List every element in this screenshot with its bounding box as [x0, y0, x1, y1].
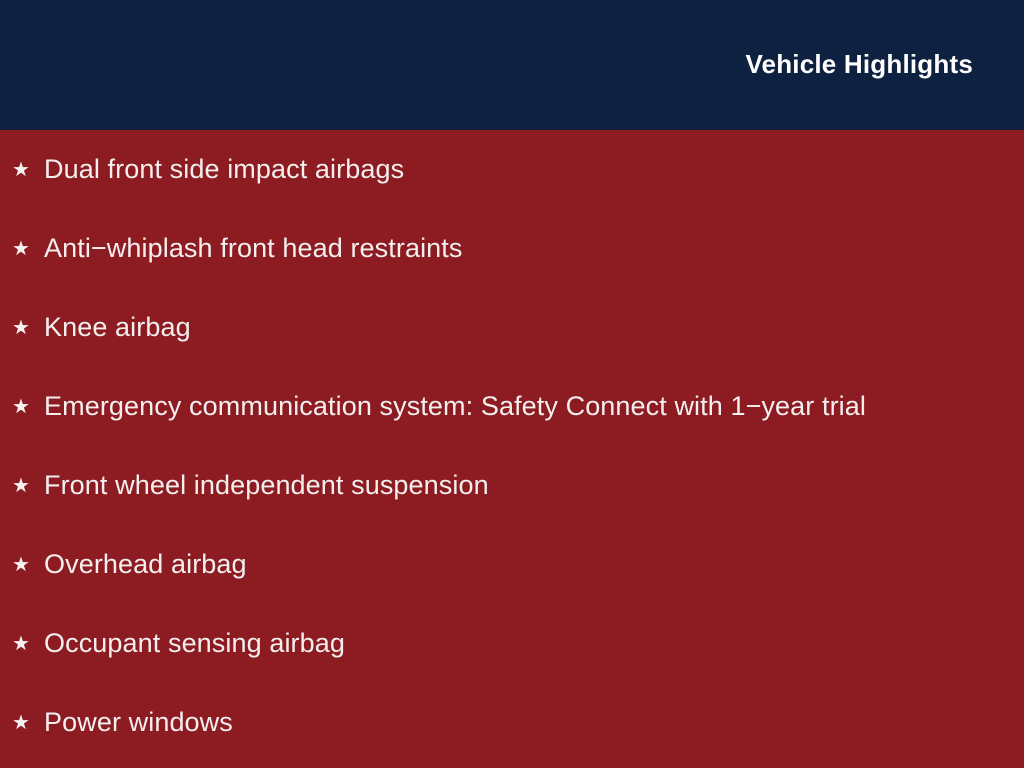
star-bullet-icon: ★	[12, 475, 44, 495]
list-item-label: Dual front side impact airbags	[44, 154, 404, 185]
list-item: ★Front wheel independent suspension	[0, 446, 1024, 525]
list-item: ★Knee airbag	[0, 288, 1024, 367]
star-bullet-icon: ★	[12, 396, 44, 416]
vehicle-highlights-list: ★Dual front side impact airbags★Anti−whi…	[0, 130, 1024, 762]
highlights-content-area: ★Dual front side impact airbags★Anti−whi…	[0, 130, 1024, 768]
list-item-label: Front wheel independent suspension	[44, 470, 489, 501]
list-item-label: Anti−whiplash front head restraints	[44, 233, 462, 264]
list-item-label: Overhead airbag	[44, 549, 247, 580]
star-bullet-icon: ★	[12, 159, 44, 179]
star-bullet-icon: ★	[12, 554, 44, 574]
slide-header-band: Vehicle Highlights	[0, 0, 1024, 130]
list-item: ★Dual front side impact airbags	[0, 130, 1024, 209]
list-item-label: Knee airbag	[44, 312, 191, 343]
star-bullet-icon: ★	[12, 712, 44, 732]
list-item-label: Power windows	[44, 707, 233, 738]
vehicle-highlights-slide: Vehicle Highlights ★Dual front side impa…	[0, 0, 1024, 768]
star-bullet-icon: ★	[12, 238, 44, 258]
list-item-label: Emergency communication system: Safety C…	[44, 391, 866, 422]
star-bullet-icon: ★	[12, 317, 44, 337]
list-item: ★Emergency communication system: Safety …	[0, 367, 1024, 446]
page-title: Vehicle Highlights	[745, 50, 973, 79]
list-item: ★Power windows	[0, 683, 1024, 762]
list-item: ★Occupant sensing airbag	[0, 604, 1024, 683]
list-item: ★Overhead airbag	[0, 525, 1024, 604]
list-item: ★Anti−whiplash front head restraints	[0, 209, 1024, 288]
star-bullet-icon: ★	[12, 633, 44, 653]
list-item-label: Occupant sensing airbag	[44, 628, 345, 659]
